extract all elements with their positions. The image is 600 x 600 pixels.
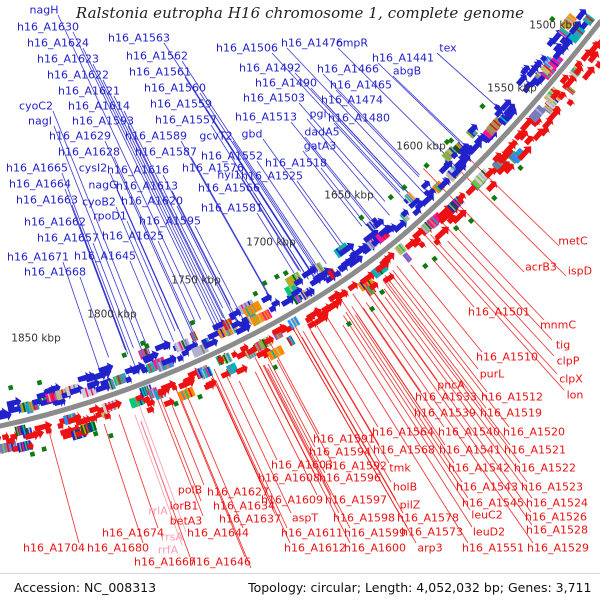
gene-label-reverse_labels[interactable]: tig	[556, 340, 570, 351]
gene-label-forward_labels[interactable]: h16_A1525	[241, 171, 303, 182]
gene-label-reverse_labels[interactable]: h16_A1598	[333, 513, 395, 524]
gene-arrow[interactable]	[595, 60, 600, 69]
gene-arrow[interactable]	[231, 349, 238, 359]
gene-label-reverse_labels[interactable]: h16_A1627	[207, 487, 269, 498]
label-leader-line	[104, 424, 143, 543]
gene-label-forward_labels[interactable]: h16_A1492	[239, 63, 301, 74]
gene-label-forward_labels[interactable]: h16_A1581	[201, 203, 263, 214]
gene-label-forward_labels[interactable]: h16_A1663	[16, 195, 78, 206]
gene-label-forward_labels[interactable]: cysI2	[79, 163, 108, 174]
gene-label-forward_labels[interactable]: h16_A1503	[243, 93, 305, 104]
gene-label-reverse_labels[interactable]: mnmC	[540, 320, 576, 331]
gene-label-forward_labels[interactable]: nagG	[88, 180, 117, 191]
gene-label-reverse_labels[interactable]: h16_A1680	[87, 543, 149, 554]
gene-label-forward_labels[interactable]: h16_A1593	[72, 116, 134, 127]
gene-arrow[interactable]	[421, 180, 431, 190]
gene-label-reverse_labels[interactable]: holB	[393, 482, 417, 493]
gene-label-reverse_labels[interactable]: h16_A1545	[462, 498, 524, 509]
label-leader-line	[48, 428, 79, 543]
gene-label-rna_labels[interactable]: rrlA	[148, 506, 167, 517]
gene-label-reverse_labels[interactable]: leuD2	[473, 527, 505, 538]
scale-tick-label: 1600 kbp	[396, 142, 445, 153]
gene-label-forward_labels[interactable]: h16_A1466	[317, 64, 379, 75]
label-leader-line	[448, 241, 554, 356]
gene-label-forward_labels[interactable]: dadA5	[304, 127, 339, 138]
label-leader-line	[397, 266, 478, 369]
genome-info-text: Topology: circular; Length: 4,052,032 bp…	[156, 580, 591, 595]
gene-label-forward_labels[interactable]: h16_A1562	[126, 51, 188, 62]
gene-arrow[interactable]	[261, 293, 272, 304]
scale-tick-label: 1850 kbp	[11, 334, 60, 345]
gene-label-forward_labels[interactable]: h16_A1665	[6, 163, 68, 174]
gene-label-rna_labels[interactable]: rrsA	[161, 532, 183, 543]
genome-map-viewer[interactable]: Ralstonia eutropha H16 chromosome 1, com…	[0, 0, 600, 600]
gene-label-forward_labels[interactable]: h16_A1587	[135, 147, 197, 158]
gene-label-reverse_labels[interactable]: h16_A1540	[438, 427, 500, 438]
gene-label-forward_labels[interactable]: h16_A1480	[328, 113, 390, 124]
gene-label-reverse_labels[interactable]: h16_A1523	[521, 482, 583, 493]
label-leader-line	[157, 398, 203, 517]
gene-block[interactable]	[388, 194, 394, 200]
gene-arrow[interactable]	[235, 364, 247, 375]
accession-text: Accession: NC_008313	[0, 580, 156, 595]
gene-label-forward_labels[interactable]: cyoC2	[19, 101, 53, 112]
gene-label-forward_labels[interactable]: tex	[439, 43, 456, 54]
gene-label-reverse_labels[interactable]: h16_A1519	[480, 408, 542, 419]
gene-label-reverse_labels[interactable]: h16_A1667	[134, 557, 196, 568]
scale-tick-label: 1750 kbp	[171, 276, 220, 287]
gene-label-reverse_labels[interactable]: h16_A1512	[481, 392, 543, 403]
gene-block[interactable]	[189, 331, 198, 342]
gene-label-reverse_labels[interactable]: h16_A1520	[503, 427, 565, 438]
gene-label-forward_labels[interactable]: h16_A1566	[198, 183, 260, 194]
gene-label-reverse_labels[interactable]: h16_A1603	[271, 460, 333, 471]
gene-label-forward_labels[interactable]: gatA3	[304, 141, 337, 152]
gene-label-forward_labels[interactable]: abgB	[393, 66, 421, 77]
gene-label-rna_labels[interactable]: rrfA	[158, 545, 178, 556]
gene-label-forward_labels[interactable]: h16_A1561	[129, 67, 191, 78]
gene-label-forward_labels[interactable]: h16_A1506	[216, 43, 278, 54]
gene-label-reverse_labels[interactable]: h16_A1539	[414, 408, 476, 419]
gene-block[interactable]	[274, 274, 280, 280]
gene-label-reverse_labels[interactable]: h16_A1634	[213, 501, 275, 512]
gene-label-forward_labels[interactable]: h16_A1624	[27, 38, 89, 49]
gene-block[interactable]	[93, 431, 99, 437]
label-leader-line	[316, 324, 378, 427]
scale-tick-label: 1800 kbp	[87, 310, 136, 321]
gene-block[interactable]	[453, 225, 459, 231]
gene-block[interactable]	[41, 446, 47, 452]
gene-label-reverse_labels[interactable]: lon	[567, 390, 584, 401]
gene-arrow[interactable]	[164, 397, 175, 407]
gene-label-reverse_labels[interactable]: h16_A1543	[456, 482, 518, 493]
gene-label-reverse_labels[interactable]: h16_A1524	[526, 498, 588, 509]
gene-label-forward_labels[interactable]: h16_A1595	[139, 216, 201, 227]
gene-label-reverse_labels[interactable]: h16_A1529	[527, 543, 589, 554]
label-leader-line	[80, 227, 128, 354]
gene-label-forward_labels[interactable]: cyoB2	[82, 197, 116, 208]
scale-tick-label: 1650 kbp	[324, 191, 373, 202]
gene-block[interactable]	[272, 364, 278, 370]
gene-label-reverse_labels[interactable]: h16_A1596	[319, 473, 381, 484]
scale-tick-label: 1500 kbp	[529, 21, 578, 32]
gene-label-reverse_labels[interactable]: h16_A1611	[281, 528, 343, 539]
gene-label-reverse_labels[interactable]: pncA	[437, 380, 465, 391]
gene-label-reverse_labels[interactable]: h16_A1704	[23, 543, 85, 554]
gene-label-forward_labels[interactable]: h16_A1620	[121, 196, 183, 207]
gene-label-reverse_labels[interactable]: h16_A1578	[397, 513, 459, 524]
gene-label-reverse_labels[interactable]: h16_A1592	[325, 461, 387, 472]
gene-label-forward_labels[interactable]: gcvT2	[199, 131, 232, 142]
gene-label-forward_labels[interactable]: h16_A1559	[150, 99, 212, 110]
gene-label-forward_labels[interactable]: h16_A1657	[37, 233, 99, 244]
gene-block[interactable]	[358, 214, 364, 220]
gene-label-reverse_labels[interactable]: acrB3	[525, 262, 557, 273]
gene-label-forward_labels[interactable]: h16_A1671	[7, 252, 69, 263]
gene-label-forward_labels[interactable]: h16_A1589	[125, 131, 187, 142]
gene-block[interactable]	[121, 352, 127, 358]
gene-label-forward_labels[interactable]: h16_A1668	[24, 267, 86, 278]
gene-label-reverse_labels[interactable]: aspT	[292, 513, 318, 524]
gene-label-reverse_labels[interactable]: h16_A1510	[476, 352, 538, 363]
gene-label-forward_labels[interactable]: h16_A1560	[144, 83, 206, 94]
gene-label-reverse_labels[interactable]: ispD	[568, 266, 592, 277]
gene-label-reverse_labels[interactable]: h16_A1608	[258, 473, 320, 484]
gene-arrow[interactable]	[486, 181, 497, 192]
gene-label-forward_labels[interactable]: h16_A1625	[102, 231, 164, 242]
gene-label-forward_labels[interactable]: pgi	[309, 109, 326, 120]
gene-label-reverse_labels[interactable]: h16_A1674	[102, 528, 164, 539]
gene-label-reverse_labels[interactable]: h16_A1573	[401, 527, 463, 538]
label-leader-line	[393, 76, 468, 148]
gene-label-forward_labels[interactable]: h16_A1490	[255, 78, 317, 89]
gene-label-reverse_labels[interactable]: iorB1	[170, 501, 199, 512]
gene-block[interactable]	[113, 373, 128, 386]
gene-block[interactable]	[402, 252, 412, 263]
gene-label-reverse_labels[interactable]: polB	[178, 485, 202, 496]
gene-label-reverse_labels[interactable]: clpX	[559, 374, 583, 385]
gene-block[interactable]	[379, 289, 385, 295]
gene-label-reverse_labels[interactable]: h16_A1568	[373, 445, 435, 456]
gene-label-reverse_labels[interactable]: purL	[480, 369, 505, 380]
gene-arrow[interactable]	[205, 378, 216, 388]
gene-label-forward_labels[interactable]: h16_A1623	[37, 54, 99, 65]
gene-arrow[interactable]	[582, 67, 595, 81]
gene-arrow[interactable]	[434, 227, 448, 241]
gene-label-reverse_labels[interactable]: h16_A1594	[309, 447, 371, 458]
gene-label-forward_labels[interactable]: h16_A1557	[155, 115, 217, 126]
gene-block[interactable]	[346, 321, 352, 327]
gene-label-forward_labels[interactable]: hyi1	[217, 170, 241, 181]
gene-block[interactable]	[423, 162, 430, 169]
gene-label-forward_labels[interactable]: h16_A1616	[107, 165, 169, 176]
gene-label-reverse_labels[interactable]: h16_A1591	[313, 434, 375, 445]
gene-block[interactable]	[267, 345, 285, 361]
gene-label-forward_labels[interactable]: nagI	[28, 116, 52, 127]
status-bar: Accession: NC_008313 Topology: circular;…	[0, 573, 600, 600]
gene-label-reverse_labels[interactable]: h16_A1522	[514, 463, 576, 474]
gene-label-forward_labels[interactable]: h16_A1630	[17, 22, 79, 33]
label-leader-line	[264, 351, 315, 447]
gene-label-reverse_labels[interactable]: h16_A1551	[462, 543, 524, 554]
gene-label-forward_labels[interactable]: h16_A1629	[49, 131, 111, 142]
gene-label-reverse_labels[interactable]: betA3	[170, 516, 203, 527]
gene-block[interactable]	[422, 263, 428, 270]
gene-block[interactable]	[369, 306, 375, 312]
gene-block[interactable]	[491, 195, 497, 202]
gene-label-forward_labels[interactable]: h16_A1628	[58, 147, 120, 158]
gene-label-reverse_labels[interactable]: h16_A1501	[468, 307, 530, 318]
gene-label-reverse_labels[interactable]: h16_A1533	[415, 392, 477, 403]
gene-label-forward_labels[interactable]: nagH	[30, 5, 59, 16]
gene-label-forward_labels[interactable]: h16_A1645	[74, 251, 136, 262]
gene-label-forward_labels[interactable]: h16_A1513	[235, 112, 297, 123]
gene-label-reverse_labels[interactable]: tmk	[389, 463, 410, 474]
gene-label-forward_labels[interactable]: h16_A1474	[321, 95, 383, 106]
gene-label-reverse_labels[interactable]: h16_A1646	[189, 557, 251, 568]
gene-label-reverse_labels[interactable]: h16_A1637	[219, 514, 281, 525]
gene-label-reverse_labels[interactable]: h16_A1564	[372, 427, 434, 438]
label-leader-line	[130, 261, 163, 340]
gene-block[interactable]	[283, 270, 289, 276]
gene-arrow[interactable]	[125, 374, 131, 384]
gene-label-reverse_labels[interactable]: h16_A1521	[504, 445, 566, 456]
gene-label-forward_labels[interactable]: ompR	[336, 38, 368, 49]
gene-label-forward_labels[interactable]: h16_A1441	[372, 53, 434, 64]
gene-label-forward_labels[interactable]: h16_A1614	[68, 101, 130, 112]
scale-tick-label: 1550 kbp	[487, 84, 536, 95]
gene-arrow[interactable]	[347, 281, 357, 292]
gene-label-forward_labels[interactable]: h16_A1621	[58, 86, 120, 97]
gene-label-reverse_labels[interactable]: clpP	[557, 356, 580, 367]
gene-label-forward_labels[interactable]: h16_A1664	[9, 179, 71, 190]
gene-label-reverse_labels[interactable]: h16_A1542	[448, 463, 510, 474]
gene-label-reverse_labels[interactable]: h16_A1600	[344, 543, 406, 554]
gene-block[interactable]	[197, 394, 203, 400]
gene-label-forward_labels[interactable]: rpoD1	[93, 211, 127, 222]
gene-block[interactable]	[468, 218, 475, 224]
label-leader-line	[363, 308, 421, 392]
gene-label-reverse_labels[interactable]: h16_A1597	[325, 495, 387, 506]
gene-label-forward_labels[interactable]: gbd	[242, 129, 263, 140]
gene-block[interactable]	[479, 103, 485, 110]
gene-label-forward_labels[interactable]: h16_A1563	[108, 33, 170, 44]
gene-label-reverse_labels[interactable]: h16_A1528	[526, 525, 588, 536]
scale-tick-label: 1700 kbp	[246, 238, 295, 249]
gene-label-reverse_labels[interactable]: pilZ	[400, 500, 421, 511]
gene-label-forward_labels[interactable]: h16_A1662	[24, 217, 86, 228]
gene-label-forward_labels[interactable]: h16_A1613	[116, 181, 178, 192]
gene-label-reverse_labels[interactable]: arp3	[417, 543, 442, 554]
gene-label-reverse_labels[interactable]: h16_A1612	[284, 543, 346, 554]
gene-block[interactable]	[252, 291, 258, 297]
gene-label-forward_labels[interactable]: h16_A1476	[281, 38, 343, 49]
gene-label-forward_labels[interactable]: h16_A1518	[265, 158, 327, 169]
gene-label-forward_labels[interactable]: h16_A1622	[47, 70, 109, 81]
gene-block[interactable]	[30, 451, 36, 457]
gene-arrow[interactable]	[0, 433, 1, 444]
gene-block[interactable]	[8, 385, 13, 391]
gene-label-reverse_labels[interactable]: h16_A1599	[344, 528, 406, 539]
gene-block[interactable]	[37, 380, 43, 386]
gene-label-reverse_labels[interactable]: h16_A1644	[187, 528, 249, 539]
gene-block[interactable]	[431, 256, 437, 263]
gene-label-reverse_labels[interactable]: leuC2	[471, 510, 502, 521]
gene-label-reverse_labels[interactable]: metC	[558, 236, 587, 247]
gene-arrow[interactable]	[567, 98, 576, 106]
gene-label-reverse_labels[interactable]: h16_A1526	[525, 512, 587, 523]
gene-block[interactable]	[286, 335, 295, 346]
gene-block[interactable]	[517, 165, 523, 172]
gene-label-forward_labels[interactable]: h16_A1552	[201, 151, 263, 162]
gene-label-forward_labels[interactable]: h16_A1465	[330, 80, 392, 91]
gene-label-reverse_labels[interactable]: h16_A1541	[439, 445, 501, 456]
